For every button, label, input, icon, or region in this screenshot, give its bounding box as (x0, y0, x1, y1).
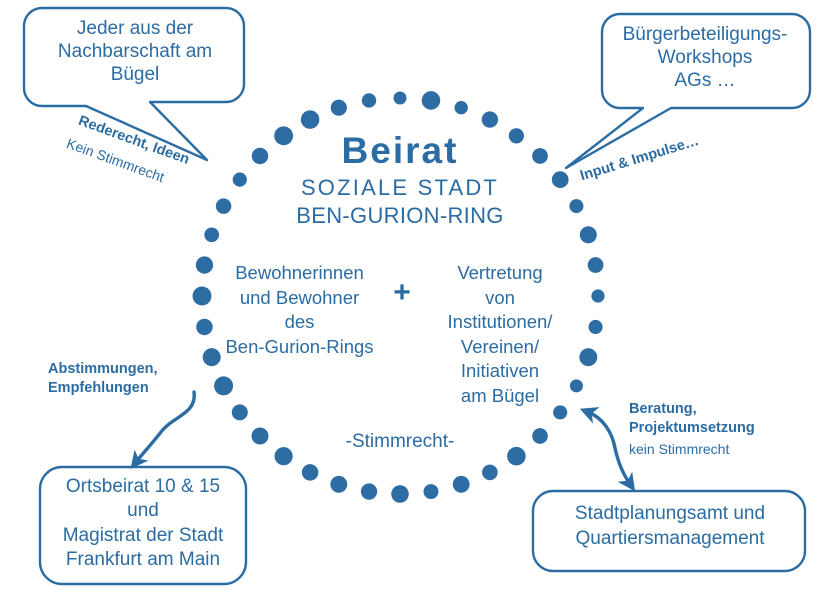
ring-footer-note: -Stimmrecht- (300, 430, 500, 453)
ring-dot (482, 465, 498, 481)
ring-dot (394, 92, 407, 105)
ring-dot (196, 319, 212, 335)
page-subtitle-primary: SOZIALE STADT (240, 175, 560, 202)
ring-dot (391, 485, 409, 503)
ring-dot (453, 476, 470, 493)
ring-dot (579, 348, 597, 366)
ring-column-institutions: Vertretung von Institutionen/ Vereinen/ … (420, 261, 580, 409)
ring-dot (482, 111, 498, 127)
ring-dot (196, 256, 213, 273)
ring-dot (275, 447, 293, 465)
ring-column-residents: Bewohnerinnen und Bewohner des Ben-Gurio… (212, 261, 387, 359)
bubble-top-left-label: Jeder aus der Nachbarschaft am Bügel (30, 17, 240, 87)
ring-dot (580, 226, 597, 243)
arrow-label-abstimmungen: Abstimmungen, Empfehlungen (48, 360, 228, 398)
ring-dot (532, 428, 548, 444)
ring-dot (588, 257, 604, 273)
box-stadtplanungsamt-label: Stadtplanungsamt und Quartiersmanagement (540, 502, 800, 551)
ring-dot (251, 428, 268, 445)
ring-dot (569, 199, 583, 213)
ring-dot (361, 483, 377, 499)
arrow-label-kein-stimmrecht-right: kein Stimmrecht (629, 440, 819, 458)
ring-dot (330, 476, 347, 493)
ring-dot (301, 110, 320, 129)
ring-dot (422, 91, 441, 110)
arrow-label-beratung: Beratung, Projektumsetzung (629, 400, 819, 438)
page-subtitle-secondary: BEN-GURION-RING (240, 203, 560, 230)
ring-dot (331, 100, 347, 116)
ring-dot (589, 320, 603, 334)
ring-dot (302, 464, 318, 480)
ring-dot (216, 198, 232, 214)
ring-dot (204, 227, 219, 242)
ring-dot (591, 289, 604, 302)
diagram-canvas: Jeder aus der Nachbarschaft am Bügel Bür… (0, 0, 820, 600)
ring-dot (507, 447, 526, 466)
ring-dot (232, 404, 248, 420)
plus-icon: + (387, 278, 417, 308)
ring-dot (193, 287, 212, 306)
arrow-beratung (588, 412, 630, 484)
arrow-abstimmungen (136, 392, 194, 462)
box-ortsbeirat-label: Ortsbeirat 10 & 15 und Magistrat der Sta… (45, 475, 241, 572)
ring-dot (455, 101, 468, 114)
ring-dot (362, 93, 376, 107)
page-title: Beirat (240, 128, 560, 173)
ring-dot (424, 484, 439, 499)
bubble-top-right-label: Bürgerbeteiligungs- Workshops AGs … (600, 23, 810, 93)
